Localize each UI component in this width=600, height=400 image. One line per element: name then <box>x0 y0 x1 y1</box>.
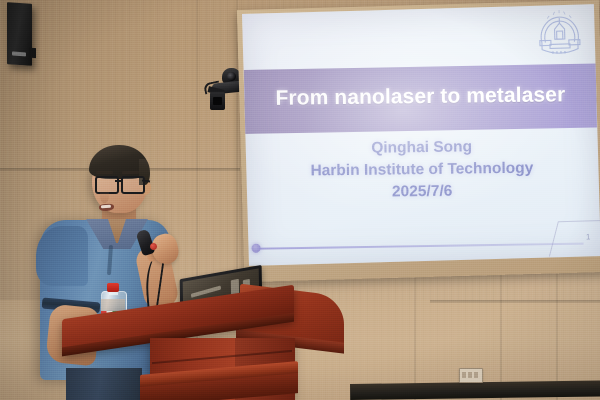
presenter-nose <box>100 190 109 203</box>
slide-title-text: From nanolaser to metalaser <box>275 83 565 111</box>
presenter-shoulder <box>36 226 88 286</box>
microphone-tip-light <box>150 243 157 250</box>
presenter-trousers <box>66 368 142 400</box>
slide-page-number: 1 <box>586 232 591 241</box>
wall-outlet-icon <box>459 368 483 383</box>
presentation-photo-scene: From nanolaser to metalaser Qinghai Song… <box>0 0 600 400</box>
slide-corner-decoration <box>549 220 600 256</box>
slide-subtitle-block: Qinghai Song Harbin Institute of Technol… <box>246 135 599 205</box>
presenter-eyebrow <box>96 171 113 174</box>
wall-speaker-icon <box>7 2 32 66</box>
slide-title: From nanolaser to metalaser <box>244 64 597 130</box>
slide-footer-dot <box>251 244 260 253</box>
eyeglasses-icon <box>95 176 147 191</box>
projection-screen: From nanolaser to metalaser Qinghai Song… <box>242 4 600 276</box>
presenter-eyebrow <box>122 171 139 175</box>
bottle-label-upper <box>101 299 125 311</box>
bottle-cap <box>107 283 119 292</box>
wall-panel-seam <box>500 270 502 400</box>
projected-slide: From nanolaser to metalaser Qinghai Song… <box>242 4 600 266</box>
wall-panel-seam <box>414 270 416 400</box>
wall-trim-line <box>430 300 600 303</box>
slide-date: 2025/7/6 <box>246 179 598 205</box>
slide-footer-line <box>254 243 584 250</box>
hit-university-crest-icon <box>534 8 585 61</box>
